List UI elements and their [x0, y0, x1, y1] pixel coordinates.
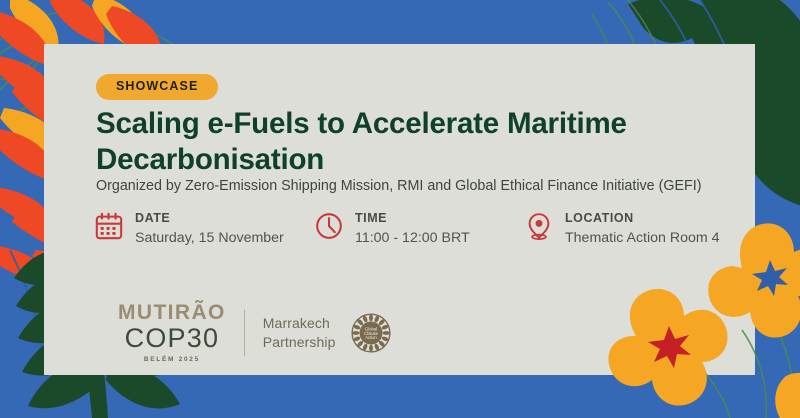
event-meta-row: DATE Saturday, 15 November TIME 11:00 - … — [94, 209, 754, 248]
content-card: SHOWCASE Scaling e-Fuels to Accelerate M… — [44, 44, 755, 375]
seal-line-3: Action — [365, 335, 377, 340]
event-poster: SHOWCASE Scaling e-Fuels to Accelerate M… — [0, 0, 800, 418]
showcase-badge: SHOWCASE — [96, 74, 218, 100]
logo-divider — [244, 310, 245, 356]
marrakech-partnership-text: Marrakech Partnership — [263, 314, 336, 351]
event-time-value: 11:00 - 12:00 BRT — [355, 229, 470, 248]
cop30-name-text: COP30 — [118, 324, 226, 353]
logo-strip: MUTIRÃO COP30 BELÉM 2025 Marrakech Partn… — [118, 302, 394, 363]
event-date-value: Saturday, 15 November — [135, 229, 284, 248]
page-title: Scaling e-Fuels to Accelerate Maritime D… — [96, 106, 716, 178]
flower-center-star-blue — [752, 260, 788, 296]
marrakech-line-2: Partnership — [263, 333, 336, 351]
global-climate-action-seal-icon: Global Climate Action — [348, 310, 394, 356]
event-date-block: DATE Saturday, 15 November — [94, 209, 314, 248]
event-location-block: LOCATION Thematic Action Room 4 — [524, 209, 754, 248]
map-pin-icon — [524, 211, 554, 241]
cop30-logo: MUTIRÃO COP30 BELÉM 2025 — [118, 302, 226, 363]
cop30-place-year-text: BELÉM 2025 — [118, 356, 226, 363]
event-location-label: LOCATION — [565, 211, 720, 227]
event-location-value: Thematic Action Room 4 — [565, 229, 720, 248]
marrakech-line-1: Marrakech — [263, 314, 336, 332]
calendar-icon — [94, 211, 124, 241]
marrakech-partnership-logo: Marrakech Partnership Global Climate Act… — [263, 310, 394, 356]
clock-icon — [314, 211, 344, 241]
organizer-line: Organized by Zero-Emission Shipping Miss… — [96, 177, 746, 196]
event-time-text: TIME 11:00 - 12:00 BRT — [355, 209, 470, 248]
event-location-text: LOCATION Thematic Action Room 4 — [565, 209, 720, 248]
event-date-text: DATE Saturday, 15 November — [135, 209, 284, 248]
cop30-mutirao-text: MUTIRÃO — [118, 302, 226, 323]
event-time-label: TIME — [355, 211, 470, 227]
event-date-label: DATE — [135, 211, 284, 227]
event-time-block: TIME 11:00 - 12:00 BRT — [314, 209, 524, 248]
